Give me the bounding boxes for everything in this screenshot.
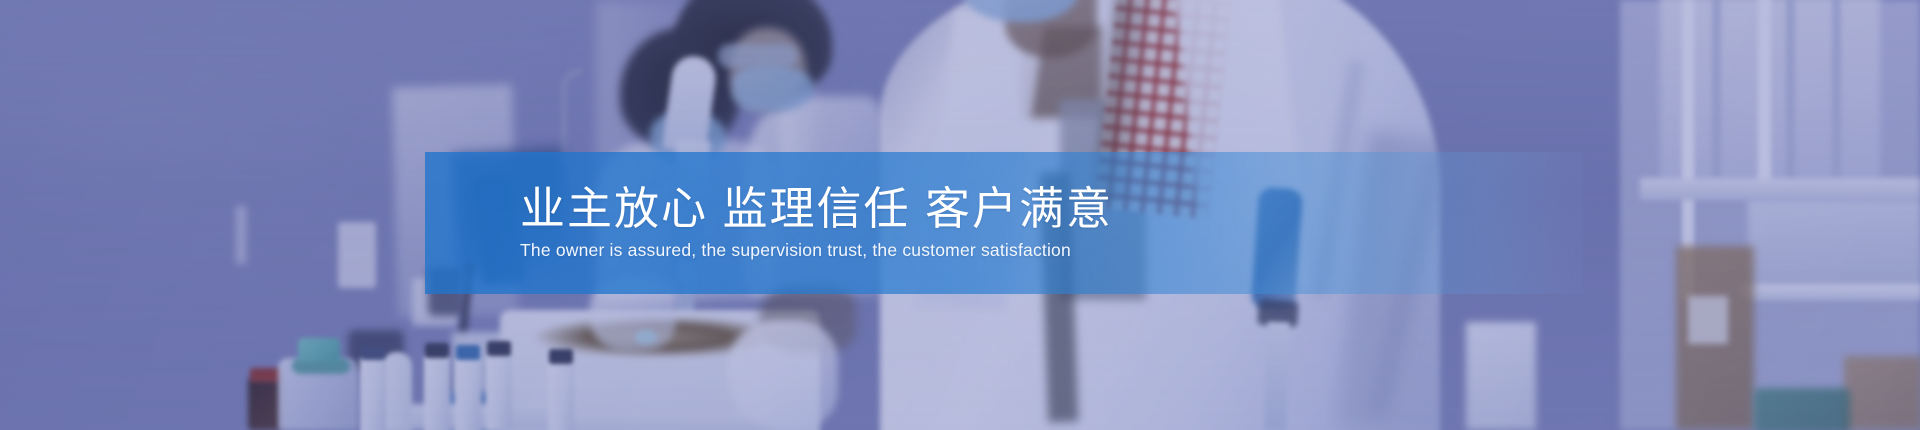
slogan-text-group: 业主放心 监理信任 客户满意 The owner is assured, the… [425,152,1583,294]
slogan-overlay-band: 业主放心 监理信任 客户满意 The owner is assured, the… [425,152,1583,294]
banner-subheadline: The owner is assured, the supervision tr… [520,240,1583,261]
banner-headline: 业主放心 监理信任 客户满意 [520,185,1583,234]
hero-banner: 业主放心 监理信任 客户满意 The owner is assured, the… [0,0,1920,430]
